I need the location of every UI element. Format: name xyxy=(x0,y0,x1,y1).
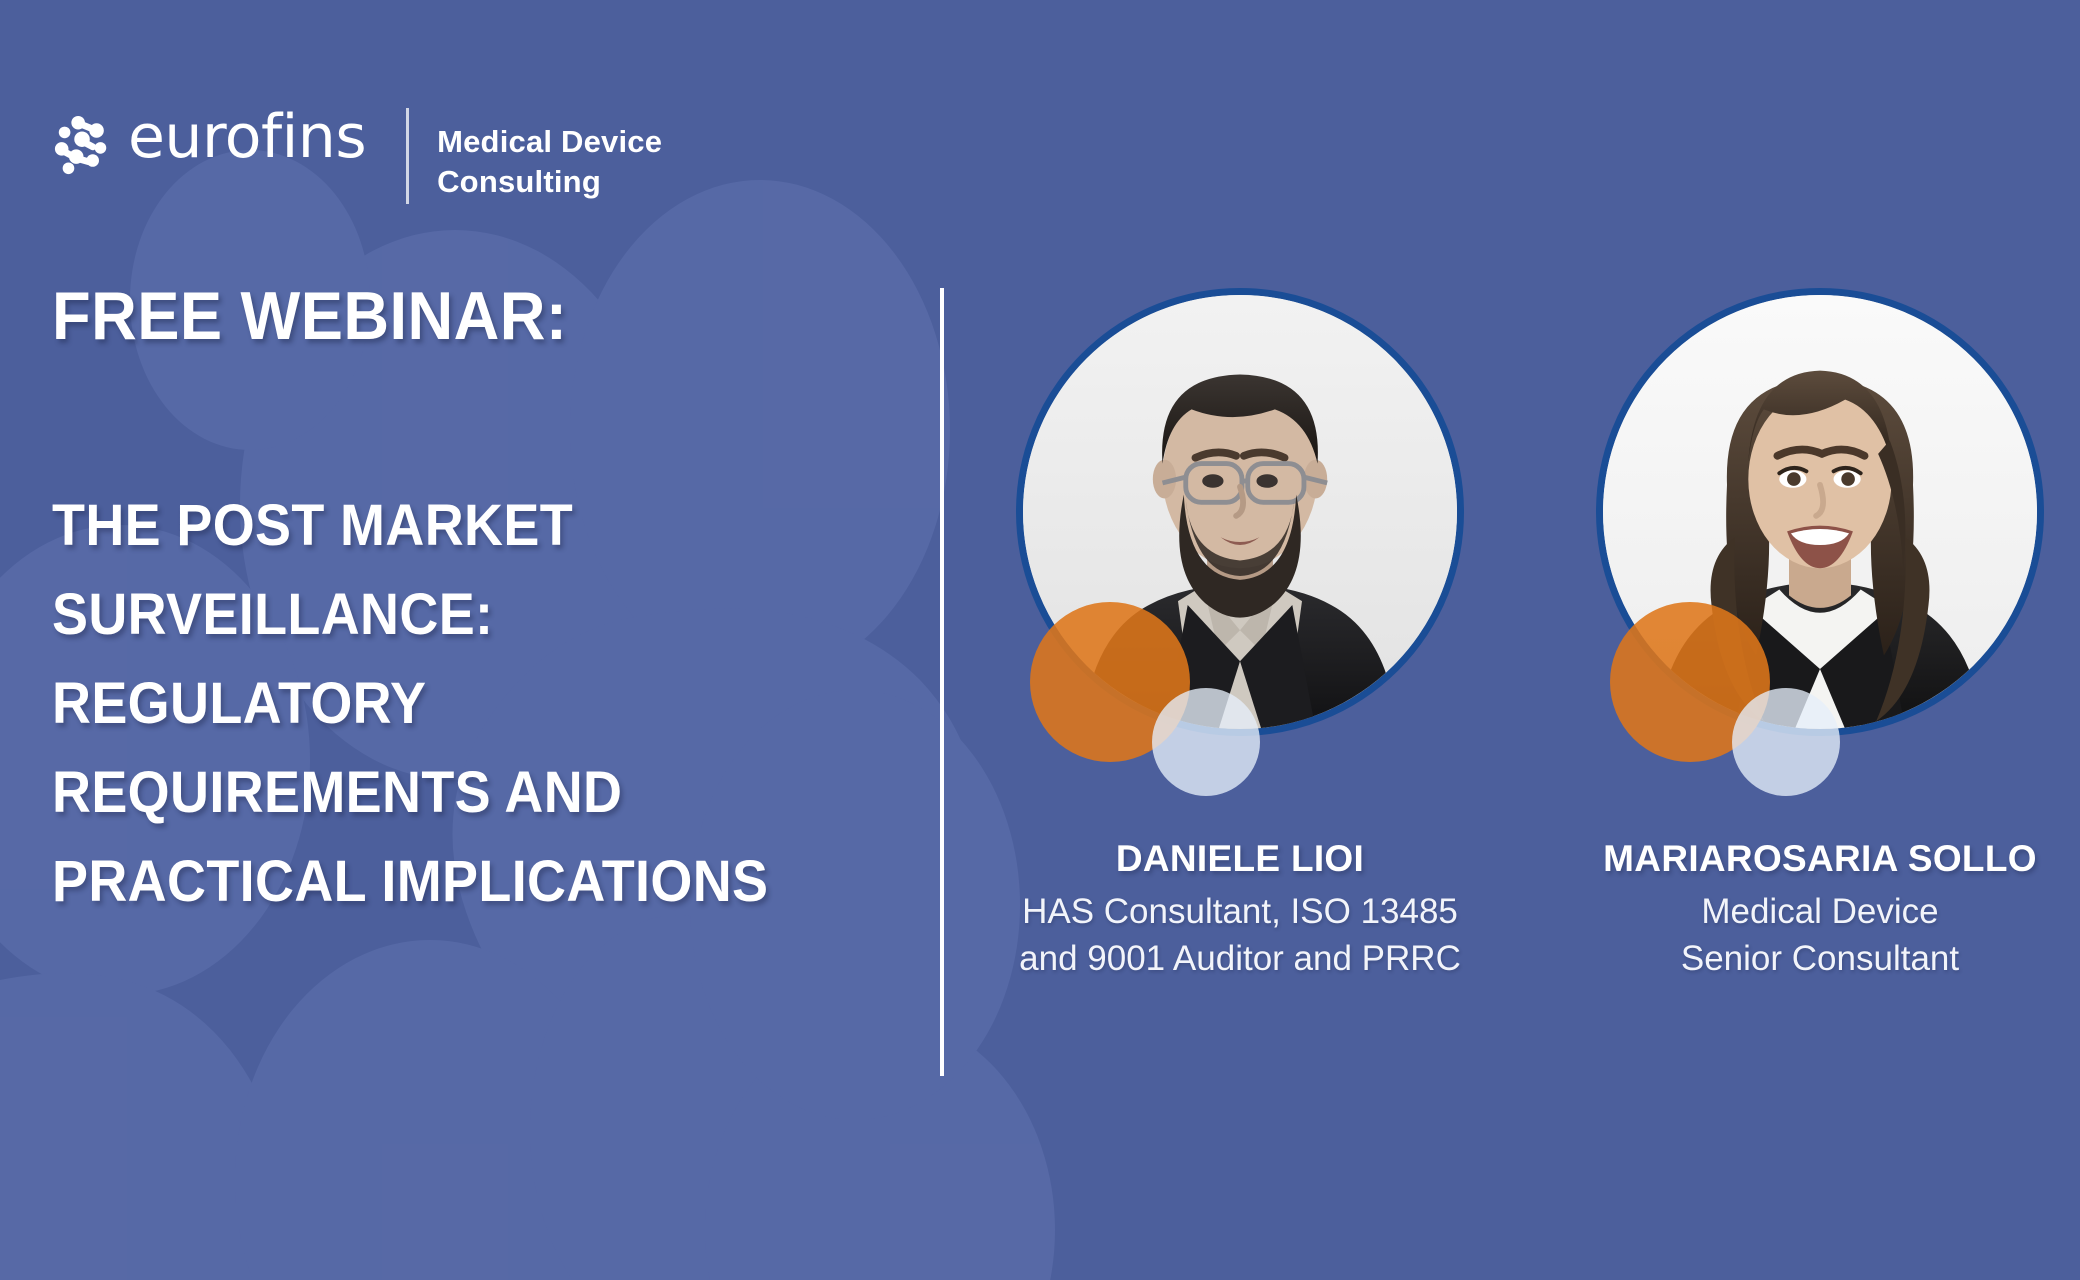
speaker-card-2: MARIAROSARIA SOLLO Medical Device Senior… xyxy=(1580,288,2060,982)
speaker-name-1: DANIELE LIOI xyxy=(1116,836,1364,882)
title-line-3: REGULATORY xyxy=(52,659,852,748)
title-line-1: THE POST MARKET xyxy=(52,481,852,570)
brand-subtitle-line-1: Medical Device xyxy=(437,122,662,162)
speaker-role-2-line-1: Medical Device xyxy=(1681,888,1959,935)
avatar xyxy=(1596,288,2044,736)
speaker-role-1-line-1: HAS Consultant, ISO 13485 xyxy=(1019,888,1461,935)
headline-block: FREE WEBINAR: THE POST MARKET SURVEILLAN… xyxy=(52,276,912,926)
brand-subtitle: Medical Device Consulting xyxy=(437,122,662,202)
brand-logo-lockup: eurofins Medical Device Consulting xyxy=(52,104,662,208)
page-title: THE POST MARKET SURVEILLANCE: REGULATORY… xyxy=(52,356,852,926)
eurofins-wordmark: eurofins xyxy=(128,106,366,168)
speaker-name-2: MARIAROSARIA SOLLO xyxy=(1603,836,2037,882)
title-line-5: PRACTICAL IMPLICATIONS xyxy=(52,837,852,926)
speaker-card-1: DANIELE LIOI HAS Consultant, ISO 13485 a… xyxy=(1000,288,1480,982)
speakers-section: DANIELE LIOI HAS Consultant, ISO 13485 a… xyxy=(1000,288,2060,982)
speaker-photo-wrap-2 xyxy=(1596,288,2044,736)
avatar xyxy=(1016,288,1464,736)
kicker-free-webinar: FREE WEBINAR: xyxy=(52,276,852,356)
speaker-role-2: Medical Device Senior Consultant xyxy=(1681,888,1959,982)
speaker-photo-wrap-1 xyxy=(1016,288,1464,736)
webinar-promo-slide: eurofins Medical Device Consulting FREE … xyxy=(0,0,2080,1280)
speaker-role-1: HAS Consultant, ISO 13485 and 9001 Audit… xyxy=(1019,888,1461,982)
speaker-role-1-line-2: and 9001 Auditor and PRRC xyxy=(1019,935,1461,982)
speaker-role-2-line-2: Senior Consultant xyxy=(1681,935,1959,982)
brand-subtitle-line-2: Consulting xyxy=(437,162,662,202)
title-line-2: SURVEILLANCE: xyxy=(52,570,852,659)
eurofins-dot-cluster-icon xyxy=(52,114,114,176)
section-divider xyxy=(940,288,944,1076)
title-line-4: REQUIREMENTS AND xyxy=(52,748,852,837)
logo-vertical-rule xyxy=(406,108,409,204)
